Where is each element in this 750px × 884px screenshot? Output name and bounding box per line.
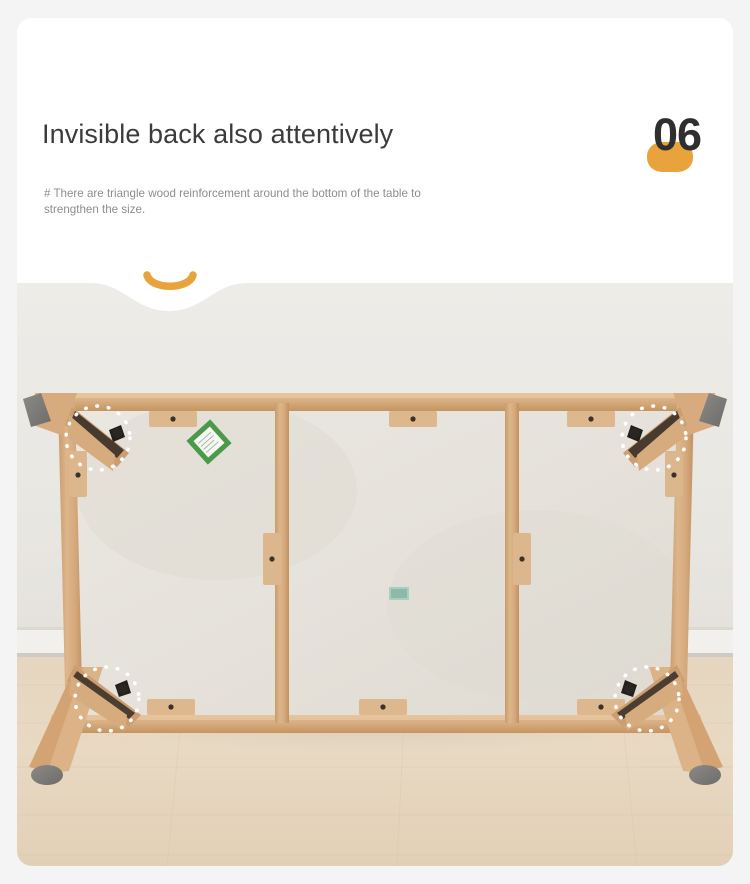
header-section: Invisible back also attentively # There …: [17, 18, 733, 283]
badge-number: 06: [611, 108, 701, 162]
page-root: Invisible back also attentively # There …: [0, 0, 750, 884]
content-card: Invisible back also attentively # There …: [17, 18, 733, 866]
page-title: Invisible back also attentively: [42, 119, 393, 150]
product-photo: [17, 275, 733, 866]
smile-arc-icon: [140, 270, 200, 296]
step-number-badge: 06: [611, 108, 701, 180]
page-subtitle: # There are triangle wood reinforcement …: [44, 186, 464, 217]
center-panel-sticker: [389, 587, 409, 600]
